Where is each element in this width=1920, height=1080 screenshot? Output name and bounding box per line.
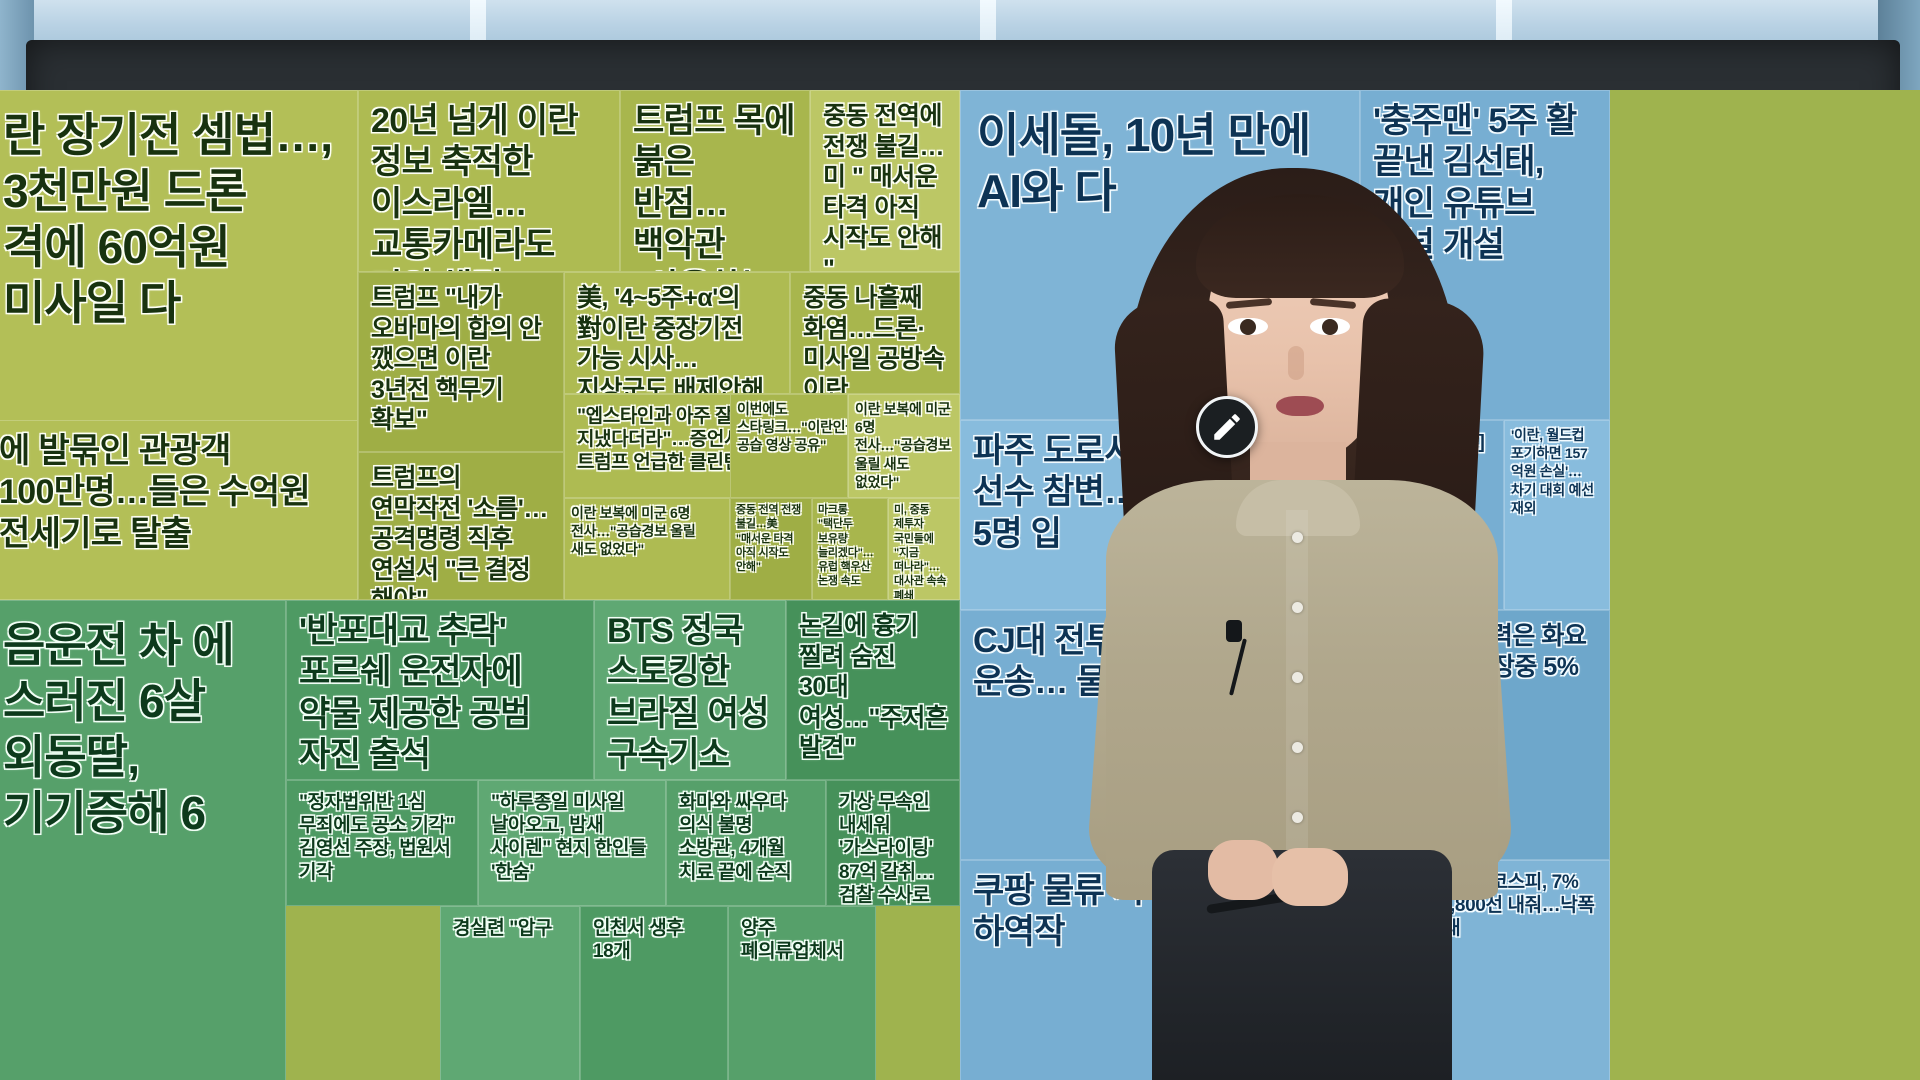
news-tile[interactable]: '평창올림픽 김 공식 해 무리 (1226, 526, 1374, 610)
news-tile[interactable]: 이란 보복에 미군 6명 전사…"공습경보 울릴 새도 없었다" (848, 394, 960, 498)
news-tile-headline: 중동 나흘째 화염…드론·미사일 공방속 이란 "호르무즈 폐쇄" (803, 283, 947, 394)
news-tile-headline: 이란 보복에 미군 6명 전사…"공습경보 울릴 새도 없었다" (571, 504, 723, 559)
news-tile-headline: 마크롱 "택단두 보유량 늘리겠다"…유럽 핵우산 논쟁 속도 (818, 503, 882, 589)
news-tile[interactable]: '이란, 월드컵 포기하면 157 억원 손실'…차기 대회 예선 재외 (1504, 420, 1610, 610)
news-tile[interactable]: 트럼프 "내가 오바마의 합의 안 깼으면 이란 3년전 핵무기 확보" (358, 272, 564, 452)
video-wall-frame: 란 장기전 셈법…, 3천만원 드론 격에 60억원 미사일 다 20년 넘게 … (26, 40, 1900, 1080)
news-tile-headline: 논길에 흉기 찔려 숨진 30대 여성…"주저흔 발견" (799, 611, 947, 764)
news-tile-headline: "정자법위반 1심 무죄에도 공소 기각" 김영선 주장, 법원서 기각 (299, 791, 465, 884)
news-tile[interactable]: '충주맨' 5주 활 끝낸 김선태, 개인 유튜브 채널 개설 (1360, 90, 1610, 420)
news-tile-headline: 트럼프의 연막작전 '소름'…공격명령 직후 연설서 "큰 결정 해야" (371, 463, 551, 600)
news-tile-headline: [박스오피스] '왕과 사는 남자', 연휴에만 247만명…이번 주 천만 전… (1387, 431, 1491, 593)
news-tile-headline: '평창올림픽 김 공식 해 무리 (1239, 537, 1361, 583)
news-tile[interactable]: 중동 나흘째 화염…드론·미사일 공방속 이란 "호르무즈 폐쇄" (790, 272, 960, 394)
news-tile[interactable]: 이세돌, 10년 만에 AI와 다 (960, 90, 1360, 420)
news-tile-headline: 트럼프 "내가 오바마의 합의 안 깼으면 이란 3년전 핵무기 확보" (371, 283, 551, 436)
news-tile[interactable]: [트포] '금보다 (1226, 860, 1374, 1080)
news-tile-headline: '충주맨' 5주 활 끝낸 김선태, 개인 유튜브 채널 개설 (1373, 101, 1597, 267)
news-tile-headline: 이번에도 스타링크…"이란인들, 공습 영상 공유" (737, 400, 841, 455)
news-tile[interactable]: CJ대 전투 아 운송… 물류 역량 (960, 610, 1226, 860)
news-tile[interactable]: 중동 전역 전쟁 불길…美 "매서운 타격 아직 시작도 안해" (730, 498, 812, 600)
news-tile-headline: 에 발묶인 관광객 100만명…들은 수억원 전세기로 탈출 (0, 431, 345, 555)
news-tile-headline: CJ대 전투 아 운송… 물류 역량 (973, 621, 1213, 704)
news-tile[interactable]: 트럼프의 연막작전 '소름'…공격명령 직후 연설서 "큰 결정 해야" (358, 452, 564, 600)
news-tile[interactable]: 화마와 싸우다 의식 불명 소방관, 4개월 치료 끝에 순직 (666, 780, 826, 906)
news-tile-headline: 트럼프 목에 붉은 반점…백악관 "사용하는 연고 탓" 해명 (633, 101, 797, 272)
news-tile[interactable]: 미, 중동 제투자 국민들에 "지금 떠나라"…대사관 속속 폐쇄 (888, 498, 960, 600)
news-tile[interactable]: BTS 정국 스토킹한 브라질 여성 구속기소 (594, 600, 786, 780)
news-tile[interactable]: 중동 전역에 전쟁 불길…미 " 매서운 타격 아직 시작도 안해 " (810, 90, 960, 272)
news-treemap-wall: 란 장기전 셈법…, 3천만원 드론 격에 60억원 미사일 다 20년 넘게 … (0, 90, 1920, 1080)
news-tile-headline: '반포대교 추락' 포르쉐 운전자에 약물 제공한 공범 자진 출석 (299, 611, 581, 777)
news-tile-headline: 경실련 "압구 (453, 917, 567, 940)
news-tile-headline: 전쟁에 결 력은 화요 …코스피, 장중 5%대 폭락 (1387, 621, 1597, 713)
news-tile-headline: '검은 화요일' 코스피, 7% 급락…5,800선 내줘…낙폭 역대 최대 (1387, 871, 1597, 941)
news-tile[interactable]: 음운전 차 에 스러진 6살 외동딸, 기기증해 6 (0, 600, 286, 1080)
news-tile[interactable]: 에 발묶인 관광객 100만명…들은 수억원 전세기로 탈출 (0, 420, 358, 600)
pencil-icon (1210, 410, 1244, 444)
news-tile[interactable]: 이란 보복에 미군 6명 전사…"공습경보 울릴 새도 없었다" (564, 498, 730, 600)
news-tile-headline: 중동 전역 전쟁 불길…美 "매서운 타격 아직 시작도 안해" (736, 503, 806, 574)
news-tile-headline: 20년 넘게 이란 정보 축적한 이스라엘…교통카메라도 거의 해킹 (371, 101, 607, 272)
news-tile[interactable]: 전쟁에 결 력은 화요 …코스피, 장중 5%대 폭락 (1374, 610, 1610, 860)
news-tile-headline: 중동 전역에 전쟁 불길…미 " 매서운 타격 아직 시작도 안해 " (823, 101, 947, 272)
news-tile[interactable]: 발 력 (1226, 610, 1374, 860)
news-tile-headline: 화마와 싸우다 의식 불명 소방관, 4개월 치료 끝에 순직 (679, 791, 813, 884)
news-tile-headline: 이세돌, 10년 만에 AI와 다 (977, 107, 1343, 219)
news-tile[interactable]: "정자법위반 1심 무죄에도 공소 기각" 김영선 주장, 법원서 기각 (286, 780, 478, 906)
news-tile[interactable]: 인천서 생후 18개 (580, 906, 728, 1080)
news-tile-headline: 안현민 (1239, 431, 1361, 454)
news-tile-headline: 양주 폐의류업체서 (741, 917, 863, 963)
news-tile[interactable]: 가상 무속인 내세워 '가스라이팅' 87억 갈취…검찰 수사로 덜미 (826, 780, 960, 906)
news-tile-headline: 이란 보복에 미군 6명 전사…"공습경보 울릴 새도 없었다" (855, 400, 953, 491)
news-tile[interactable]: 논길에 흉기 찔려 숨진 30대 여성…"주저흔 발견" (786, 600, 960, 780)
news-tile[interactable]: 파주 도로서 고교 선수 참변…하 5명 입 (960, 420, 1226, 610)
news-tile[interactable]: 마크롱 "택단두 보유량 늘리겠다"…유럽 핵우산 논쟁 속도 (812, 498, 888, 600)
news-tile[interactable]: '반포대교 추락' 포르쉐 운전자에 약물 제공한 공범 자진 출석 (286, 600, 594, 780)
news-tile-headline: 발 력 (1233, 616, 1367, 634)
news-tile[interactable]: 美, '4~5주+α'의 對이란 중장기전 가능 시사…지상군도 배제안해 (564, 272, 790, 394)
news-tile-headline: 인천서 생후 18개 (593, 917, 715, 963)
news-tile[interactable]: [박스오피스] '왕과 사는 남자', 연휴에만 247만명…이번 주 천만 전… (1374, 420, 1504, 610)
news-tile-headline: 가상 무속인 내세워 '가스라이팅' 87억 갈취…검찰 수사로 덜미 (839, 791, 947, 906)
broadcast-screenshot: 란 장기전 셈법…, 3천만원 드론 격에 60억원 미사일 다 20년 넘게 … (0, 0, 1920, 1080)
news-tile-headline: 미, 중동 제투자 국민들에 "지금 떠나라"…대사관 속속 폐쇄 (894, 503, 954, 600)
news-tile-headline: 음운전 차 에 스러진 6살 외동딸, 기기증해 6 (3, 617, 269, 841)
news-tile-headline: 美, '4~5주+α'의 對이란 중장기전 가능 시사…지상군도 배제안해 (577, 283, 777, 394)
news-tile[interactable]: 경실련 "압구 (440, 906, 580, 1080)
news-tile-headline: '이란, 월드컵 포기하면 157 억원 손실'…차기 대회 예선 재외 (1511, 426, 1603, 517)
news-tile[interactable]: 양주 폐의류업체서 (728, 906, 876, 1080)
news-tile-headline: 파주 도로서 고교 선수 참변…하 5명 입 (973, 431, 1213, 555)
news-tile[interactable]: '검은 화요일' 코스피, 7% 급락…5,800선 내줘…낙폭 역대 최대 (1374, 860, 1610, 1080)
edit-badge[interactable] (1196, 396, 1258, 458)
news-tile[interactable]: 이번에도 스타링크…"이란인들, 공습 영상 공유" (730, 394, 848, 498)
news-tile-headline: BTS 정국 스토킹한 브라질 여성 구속기소 (607, 611, 773, 777)
news-tile[interactable]: 쿠팡 물류 서 하역작 (960, 860, 1226, 1080)
news-tile[interactable]: 20년 넘게 이란 정보 축적한 이스라엘…교통카메라도 거의 해킹 (358, 90, 620, 272)
news-tile-headline: 쿠팡 물류 서 하역작 (973, 871, 1213, 954)
news-tile-headline: 란 장기전 셈법…, 3천만원 드론 격에 60억원 미사일 다 (3, 107, 341, 331)
news-tile-headline: "하루종일 미사일 날아오고, 밤새 사이렌" 현지 한인들 '한숨' (491, 791, 653, 884)
news-tile[interactable]: "하루종일 미사일 날아오고, 밤새 사이렌" 현지 한인들 '한숨' (478, 780, 666, 906)
news-tile[interactable]: 트럼프 목에 붉은 반점…백악관 "사용하는 연고 탓" 해명 (620, 90, 810, 272)
news-tile-headline: [트포] '금보다 (1239, 871, 1361, 894)
